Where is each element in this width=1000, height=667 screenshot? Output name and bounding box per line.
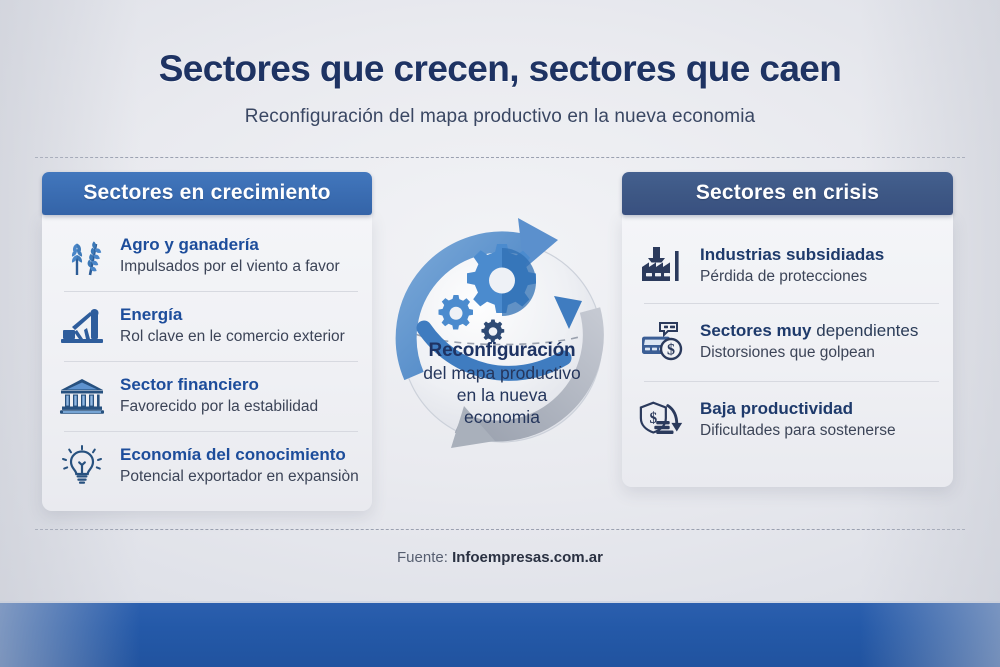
list-item-text: Baja productividad Dificultades para sos… bbox=[700, 399, 943, 442]
divider-top bbox=[35, 157, 965, 158]
list-item-text: Sector financiero Favorecido por la esta… bbox=[120, 375, 362, 418]
wheat-icon bbox=[58, 232, 106, 280]
growth-sectors-heading: Sectores en crecimiento bbox=[42, 172, 372, 215]
oil-pump-icon bbox=[58, 302, 106, 350]
list-item-title: Economía del conocimiento bbox=[120, 445, 346, 464]
svg-text:$: $ bbox=[650, 410, 658, 427]
center-caption-line1: Reconfiguración bbox=[358, 340, 646, 362]
list-item[interactable]: $ Sectores muy dependientes Distorsiones… bbox=[622, 303, 953, 381]
list-item[interactable]: Industrias subsidiadas Pérdida de protec… bbox=[622, 229, 953, 303]
divider-bottom bbox=[35, 529, 965, 530]
list-item-desc: Impulsados por el viento a favor bbox=[120, 257, 362, 277]
list-item-title: Baja productividad bbox=[700, 399, 853, 418]
list-item-text: Industrias subsidiadas Pérdida de protec… bbox=[700, 245, 943, 288]
source-name: Infoempresas.com.ar bbox=[452, 549, 603, 566]
page-subtitle: Reconfiguración del mapa productivo en l… bbox=[0, 106, 1000, 128]
list-item[interactable]: Energía Rol clave en le comercio exterio… bbox=[42, 291, 372, 361]
list-item-text: Sectores muy dependientes Distorsiones q… bbox=[700, 321, 943, 364]
growth-sectors-list: Agro y ganadería Impulsados por el vient… bbox=[42, 215, 372, 511]
center-caption-line3: en la nueva bbox=[358, 384, 646, 406]
list-item-desc: Favorecido por la estabilidad bbox=[120, 397, 362, 417]
lightbulb-icon bbox=[58, 442, 106, 490]
center-caption-line2: del mapa productivo bbox=[358, 362, 646, 384]
list-item-text: Energía Rol clave en le comercio exterio… bbox=[120, 305, 362, 348]
source-label: Fuente: bbox=[397, 549, 448, 566]
bottom-brand-bar bbox=[0, 601, 1000, 667]
infographic-canvas: Sectores que crecen, sectores que caen R… bbox=[0, 0, 1000, 667]
bank-icon bbox=[58, 372, 106, 420]
list-item-title: Sector financiero bbox=[120, 375, 259, 394]
list-item-title: Industrias subsidiadas bbox=[700, 245, 884, 264]
crisis-sectors-heading: Sectores en crisis bbox=[622, 172, 953, 215]
list-item-text: Agro y ganadería Impulsados por el vient… bbox=[120, 235, 362, 278]
page-title: Sectores que crecen, sectores que caen bbox=[0, 48, 1000, 90]
center-caption-line4: economia bbox=[358, 406, 646, 428]
svg-text:$: $ bbox=[667, 342, 675, 359]
list-item-desc: Distorsiones que golpean bbox=[700, 343, 943, 363]
crisis-sectors-panel: Sectores en crisis bbox=[622, 172, 953, 487]
list-item-desc: Rol clave en le comercio exterior bbox=[120, 327, 362, 347]
list-item-title-bold: Sectores muy bbox=[700, 321, 812, 340]
center-cycle-graphic: Reconfiguración del mapa productivo en l… bbox=[358, 190, 646, 490]
source-credit: Fuente: Infoempresas.com.ar bbox=[0, 549, 1000, 566]
growth-sectors-panel: Sectores en crecimiento bbox=[42, 172, 372, 511]
list-item-desc: Pérdida de protecciones bbox=[700, 267, 943, 287]
list-item-title: Sectores muy dependientes bbox=[700, 321, 918, 340]
list-item[interactable]: Agro y ganadería Impulsados por el vient… bbox=[42, 221, 372, 291]
list-item-title-soft: dependientes bbox=[816, 321, 918, 340]
list-item[interactable]: Economía del conocimiento Potencial expo… bbox=[42, 431, 372, 501]
list-item-title: Energía bbox=[120, 305, 182, 324]
list-item-text: Economía del conocimiento Potencial expo… bbox=[120, 445, 362, 488]
center-caption: Reconfiguración del mapa productivo en l… bbox=[358, 340, 646, 428]
list-item[interactable]: Sector financiero Favorecido por la esta… bbox=[42, 361, 372, 431]
list-item[interactable]: $ Baja productividad Dificultades para s… bbox=[622, 381, 953, 459]
list-item-desc: Potencial exportador en expansiòn bbox=[120, 467, 362, 487]
list-item-title: Agro y ganadería bbox=[120, 235, 259, 254]
crisis-sectors-list: Industrias subsidiadas Pérdida de protec… bbox=[622, 215, 953, 487]
list-item-desc: Dificultades para sostenerse bbox=[700, 421, 943, 441]
